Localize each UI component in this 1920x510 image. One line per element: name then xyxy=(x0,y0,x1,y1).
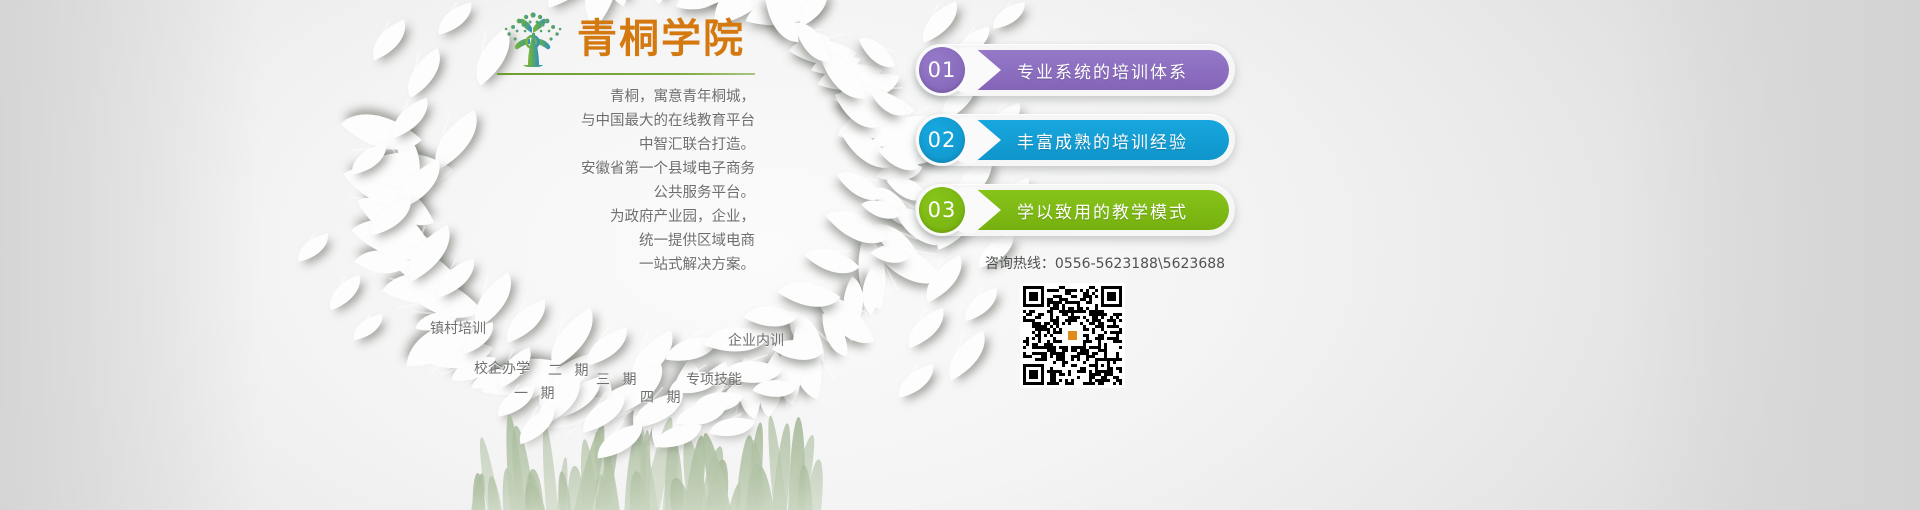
leaf-shape xyxy=(401,53,447,92)
program-label: 一 期 xyxy=(514,383,558,403)
leaf-shape xyxy=(840,89,874,132)
leaf-shape xyxy=(353,148,385,170)
leaf-shape xyxy=(876,219,914,265)
leaf-shape xyxy=(783,271,835,318)
feature-number: 01 xyxy=(919,47,965,93)
leaf-shape xyxy=(906,313,946,343)
grass-blade xyxy=(556,457,570,510)
description-line: 一站式解决方案。 xyxy=(497,253,755,277)
grass-blade xyxy=(566,466,586,510)
leaf-shape xyxy=(396,136,420,173)
qr-code xyxy=(1020,283,1125,388)
grass-blade xyxy=(485,475,503,510)
leaf-shape xyxy=(355,318,381,335)
grass-blade xyxy=(470,473,488,510)
leaf-shape xyxy=(795,27,852,78)
leaf-shape xyxy=(995,7,1022,25)
grass-blade xyxy=(704,458,733,510)
leaf-shape xyxy=(822,288,870,350)
grass-blade xyxy=(746,462,766,510)
brand-block: 青桐学院 青桐，寓意青年桐城，与中国最大的在线教育平台中智汇联合打造。安徽省第一… xyxy=(497,8,755,277)
grass-blade xyxy=(665,476,695,510)
leaf-shape xyxy=(542,313,601,362)
leaf-shape xyxy=(467,278,519,323)
grass-blade xyxy=(711,472,722,510)
description-line: 青桐，寓意青年桐城， xyxy=(497,85,755,109)
feature-label: 专业系统的培训体系 xyxy=(1017,58,1188,83)
grass-blade xyxy=(572,422,611,510)
grass-blade xyxy=(632,412,661,510)
grass-blade xyxy=(539,424,559,510)
leaf-shape xyxy=(436,263,476,292)
leaf-shape xyxy=(586,332,628,360)
program-label: 校企办学 xyxy=(474,358,530,378)
leaf-shape xyxy=(840,71,910,139)
grass-blade xyxy=(763,415,787,510)
leaf-shape xyxy=(746,357,797,412)
program-label: 三 期 xyxy=(596,369,640,389)
leaf-shape xyxy=(826,317,845,351)
leaf-shape xyxy=(750,0,816,35)
grass-blade xyxy=(750,465,774,510)
leaf-shape xyxy=(698,387,738,417)
description-line: 安徽省第一个县域电子商务 xyxy=(497,157,755,181)
feature-label: 丰富成熟的培训经验 xyxy=(1017,128,1188,153)
leaf-shape xyxy=(784,331,830,395)
leaf-shape xyxy=(795,25,826,53)
grass-blade xyxy=(476,436,503,510)
leaf-shape xyxy=(659,424,697,449)
grass-blade xyxy=(728,483,744,510)
program-label: 二 期 xyxy=(548,360,592,380)
leaf-shape xyxy=(964,293,997,317)
leaf-shape xyxy=(370,202,412,230)
grass-blade xyxy=(638,430,653,510)
feature-badge-03[interactable]: 学以致用的教学模式03 xyxy=(915,184,1235,236)
leaf-shape xyxy=(867,195,896,224)
description-line: 与中国最大的在线教育平台 xyxy=(497,109,755,133)
leaf-shape xyxy=(378,174,429,234)
grass-blade xyxy=(471,472,486,510)
feature-number: 03 xyxy=(919,187,965,233)
grass-blade xyxy=(592,434,623,510)
leaf-shape xyxy=(825,51,862,102)
grass-blade xyxy=(627,471,650,510)
leaf-shape xyxy=(847,125,889,175)
leaf-shape xyxy=(670,335,713,364)
grass-blade xyxy=(502,414,526,510)
leaf-shape xyxy=(680,400,722,428)
leaf-shape xyxy=(792,314,820,357)
grass-blade xyxy=(696,432,732,510)
leaf-shape xyxy=(366,133,447,208)
leaf-shape xyxy=(700,0,757,1)
leaf-shape xyxy=(877,89,902,119)
leaf-shape xyxy=(849,240,895,304)
leaf-shape xyxy=(582,398,626,428)
grass-blade xyxy=(661,430,682,510)
leaf-shape xyxy=(835,282,872,324)
banner-root: 青桐学院 青桐，寓意青年桐城，与中国最大的在线教育平台中智汇联合打造。安徽省第一… xyxy=(0,0,1920,510)
leaf-shape xyxy=(395,165,445,204)
program-label: 企业内训 xyxy=(728,330,784,350)
brand-divider xyxy=(497,73,755,75)
grass-blade xyxy=(591,473,617,510)
leaf-shape xyxy=(797,0,830,21)
leaf-shape xyxy=(898,369,933,393)
grass-blade xyxy=(599,439,621,510)
brand-row: 青桐学院 xyxy=(497,8,755,70)
feature-number: 02 xyxy=(919,117,965,163)
feature-label: 学以致用的教学模式 xyxy=(1017,198,1188,223)
grass-blade xyxy=(744,422,767,510)
leaf-shape xyxy=(426,115,485,164)
grass-blade xyxy=(624,429,649,510)
leaf-shape xyxy=(370,25,409,55)
grass-blade xyxy=(577,439,599,510)
leaf-shape xyxy=(843,101,901,147)
leaf-shape xyxy=(758,374,792,403)
leaf-shape xyxy=(920,6,961,37)
leaf-shape xyxy=(879,185,909,227)
grass-blade xyxy=(771,423,794,510)
description-line: 统一提供区域电商 xyxy=(497,229,755,253)
leaf-shape xyxy=(390,232,456,304)
grass-blade xyxy=(640,415,680,510)
grass-blade xyxy=(804,458,826,510)
leaf-shape xyxy=(552,397,598,428)
leaf-shape xyxy=(357,201,435,279)
grass-blade xyxy=(524,469,545,510)
leaf-shape xyxy=(864,35,890,69)
leaf-shape xyxy=(714,413,750,440)
feature-badge-list: 专业系统的培训体系01丰富成熟的培训经验02学以致用的教学模式03 xyxy=(915,44,1235,254)
grass-blade xyxy=(677,436,710,510)
grass-blade xyxy=(797,465,814,510)
grass-blade xyxy=(786,433,820,510)
leaf-shape xyxy=(360,240,405,283)
description-line: 公共服务平台。 xyxy=(497,181,755,205)
description-text: 青桐，寓意青年桐城，与中国最大的在线教育平台中智汇联合打造。安徽省第一个县域电子… xyxy=(497,85,755,277)
tree-icon xyxy=(497,9,567,69)
program-label: 四 期 xyxy=(640,387,684,407)
leaf-shape xyxy=(816,49,855,81)
grass-blade xyxy=(506,425,536,510)
grass-blade xyxy=(556,471,573,510)
leaf-shape xyxy=(799,23,825,62)
description-line: 中智汇联合打造。 xyxy=(497,133,755,157)
leaf-shape xyxy=(401,230,458,276)
leaf-shape xyxy=(842,165,878,206)
program-label: 专项技能 xyxy=(686,369,742,389)
grass-blade xyxy=(735,435,758,510)
leaf-shape xyxy=(362,186,423,258)
grass-blade xyxy=(589,430,622,510)
leaf-shape xyxy=(884,141,915,175)
leaf-shape xyxy=(387,259,453,318)
grass-blade xyxy=(524,472,546,510)
leaf-shape xyxy=(347,97,417,166)
brand-name: 青桐学院 xyxy=(577,19,745,59)
leaf-shape xyxy=(599,428,641,454)
program-label: 镇村培训 xyxy=(430,318,486,338)
grass-blade xyxy=(747,439,772,510)
grass-blade xyxy=(663,436,684,510)
leaf-shape xyxy=(855,272,888,309)
leaf-shape xyxy=(299,238,327,257)
leaf-shape xyxy=(591,0,648,1)
feature-badge-01[interactable]: 专业系统的培训体系01 xyxy=(915,44,1235,96)
hotline-text: 咨询热线：0556-5623188\5623688 xyxy=(955,253,1255,273)
leaf-shape xyxy=(843,70,895,106)
leaf-shape xyxy=(349,154,410,220)
grass-blade xyxy=(521,481,547,510)
grass-blade xyxy=(788,417,807,510)
leaf-shape xyxy=(439,7,472,30)
leaf-shape xyxy=(751,0,801,4)
leaf-shape xyxy=(943,336,991,375)
leaf-shape xyxy=(504,304,549,337)
leaf-shape xyxy=(831,200,881,254)
leaf-shape xyxy=(876,242,903,268)
leaf-shape xyxy=(541,0,610,3)
leaf-shape xyxy=(518,412,556,440)
leaf-shape xyxy=(770,0,795,40)
leaf-shape xyxy=(823,55,877,100)
leaf-shape xyxy=(328,280,362,305)
description-line: 为政府产业园，企业， xyxy=(497,205,755,229)
feature-badge-02[interactable]: 丰富成熟的培训经验02 xyxy=(915,114,1235,166)
grass-blade xyxy=(696,444,730,510)
grass-blade xyxy=(683,435,710,510)
leaf-shape xyxy=(715,385,747,413)
leaf-shape xyxy=(767,347,812,401)
grass-blade xyxy=(500,467,518,510)
leaf-shape xyxy=(810,239,854,283)
leaf-shape xyxy=(390,103,430,133)
leaf-shape xyxy=(882,158,918,186)
